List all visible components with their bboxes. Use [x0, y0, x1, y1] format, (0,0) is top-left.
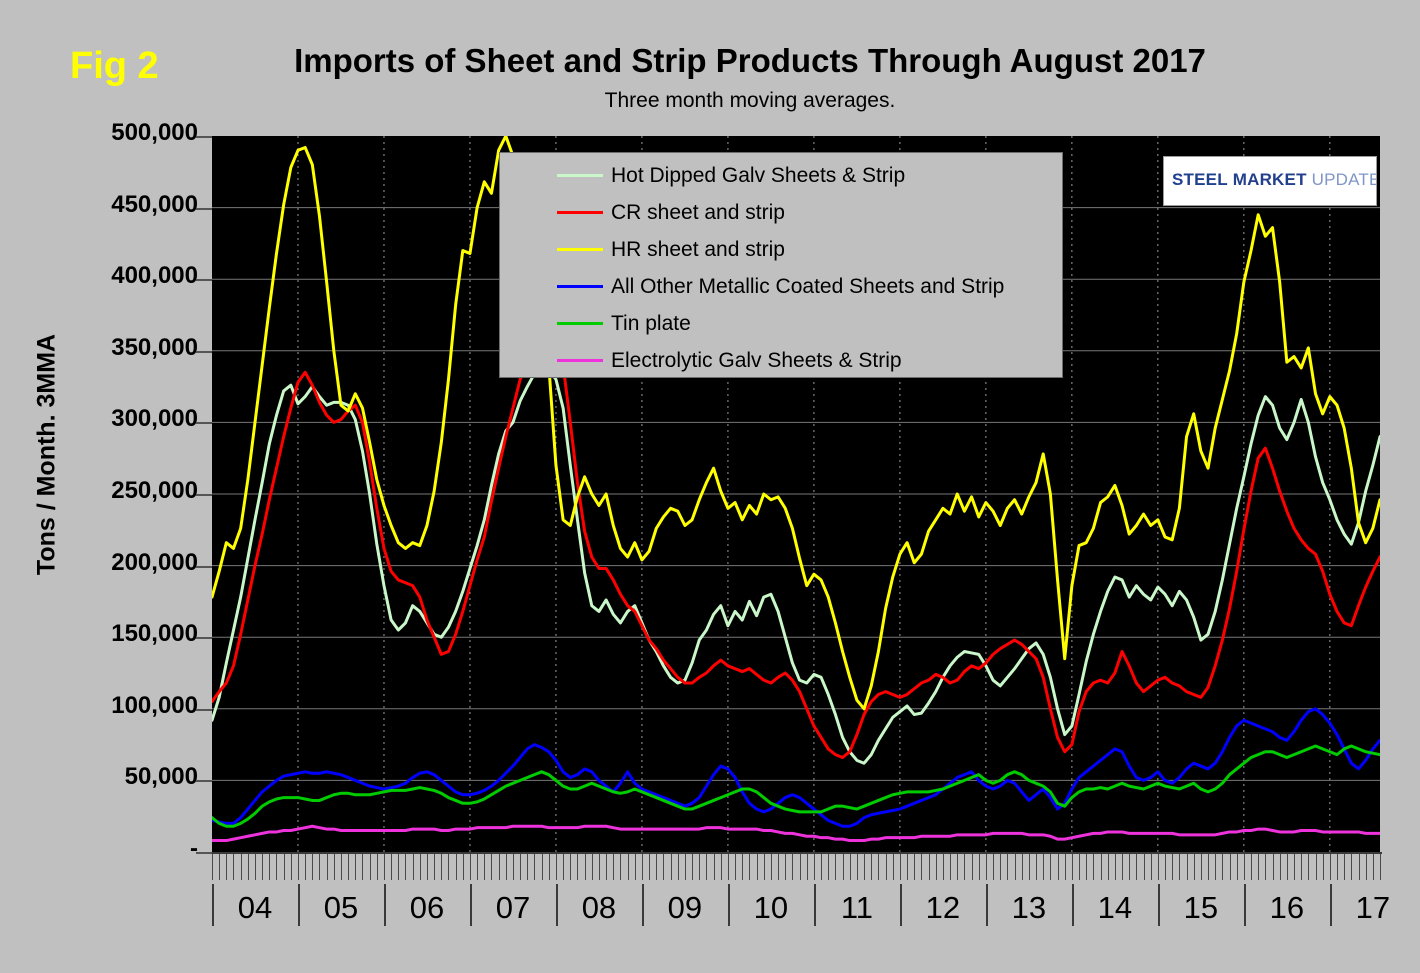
- x-axis-minor-tick: [513, 854, 514, 880]
- x-axis-minor-tick: [1015, 854, 1016, 880]
- y-axis-tick-mark: [196, 422, 212, 424]
- x-axis-tick-label: 11: [815, 890, 899, 926]
- x-axis-minor-tick: [943, 854, 944, 880]
- x-axis-minor-tick: [900, 854, 901, 880]
- x-axis-minor-tick: [1050, 854, 1051, 880]
- x-axis-minor-tick: [671, 854, 672, 880]
- x-axis-tick-label: 17: [1331, 890, 1415, 926]
- x-axis-minor-tick: [1208, 854, 1209, 880]
- x-axis-minor-tick: [1122, 854, 1123, 880]
- x-axis-minor-tick: [506, 854, 507, 880]
- x-axis-minor-tick: [1187, 854, 1188, 880]
- x-axis-tick-label: 12: [901, 890, 985, 926]
- x-axis-minor-tick: [219, 854, 220, 880]
- y-axis-tick-label: 450,000: [18, 191, 198, 219]
- x-axis-minor-tick: [1337, 854, 1338, 880]
- x-axis-minor-tick: [1380, 854, 1381, 880]
- x-axis-minor-tick: [1036, 854, 1037, 880]
- x-axis-minor-tick: [570, 854, 571, 880]
- x-axis-minor-tick: [907, 854, 908, 880]
- chart-figure: Fig 2 Imports of Sheet and Strip Product…: [0, 0, 1420, 973]
- x-axis-minor-tick: [592, 854, 593, 880]
- x-axis-minor-tick: [1179, 854, 1180, 880]
- y-axis-tick-mark: [196, 279, 212, 281]
- x-axis-minor-tick: [699, 854, 700, 880]
- x-axis-minor-tick: [534, 854, 535, 880]
- x-axis-minor-tick: [1058, 854, 1059, 880]
- legend-item-label: Electrolytic Galv Sheets & Strip: [611, 349, 902, 373]
- x-axis-minor-tick: [742, 854, 743, 880]
- y-axis-tick-mark: [196, 566, 212, 568]
- x-axis-minor-tick: [635, 854, 636, 880]
- x-axis-minor-tick: [348, 854, 349, 880]
- logo-word-update: UPDATE: [1312, 170, 1377, 189]
- x-axis-minor-tick: [1158, 854, 1159, 880]
- x-axis-minor-tick: [362, 854, 363, 880]
- x-axis-minor-tick: [850, 854, 851, 880]
- x-axis-minor-tick: [1093, 854, 1094, 880]
- y-axis-tick-label: 200,000: [18, 549, 198, 577]
- x-axis-minor-tick: [828, 854, 829, 880]
- x-axis-minor-tick: [721, 854, 722, 880]
- x-axis-minor-tick: [628, 854, 629, 880]
- y-axis-tick-mark: [196, 637, 212, 639]
- x-axis-minor-tick: [1280, 854, 1281, 880]
- x-axis-minor-tick: [1251, 854, 1252, 880]
- x-axis-minor-tick: [1373, 854, 1374, 880]
- x-axis-minor-tick: [398, 854, 399, 880]
- x-axis-minor-tick: [663, 854, 664, 880]
- chart-title: Imports of Sheet and Strip Products Thro…: [180, 42, 1320, 80]
- series-line: [212, 826, 1380, 840]
- x-axis-minor-tick: [527, 854, 528, 880]
- x-axis-minor-tick: [1294, 854, 1295, 880]
- x-axis-minor-tick: [298, 854, 299, 880]
- x-axis-minor-tick: [1273, 854, 1274, 880]
- x-axis-minor-tick: [950, 854, 951, 880]
- x-axis-tick-label: 15: [1159, 890, 1243, 926]
- x-axis-minor-tick: [585, 854, 586, 880]
- x-axis-minor-tick: [405, 854, 406, 880]
- series-line: [212, 737, 1380, 826]
- x-axis-minor-tick: [921, 854, 922, 880]
- x-axis-minor-tick: [649, 854, 650, 880]
- logo-word-market: MARKET: [1233, 170, 1307, 189]
- y-axis-tick-label: -: [18, 835, 198, 863]
- x-axis-minor-tick: [1244, 854, 1245, 880]
- x-axis-minor-tick: [470, 854, 471, 880]
- x-axis-tick-label: 10: [729, 890, 813, 926]
- legend-item[interactable]: All Other Metallic Coated Sheets and Str…: [500, 268, 1062, 305]
- x-axis-minor-tick: [549, 854, 550, 880]
- y-axis-tick-mark: [196, 136, 212, 138]
- legend-color-swatch: [557, 211, 603, 214]
- x-axis-minor-tick: [542, 854, 543, 880]
- x-axis-minor-tick: [463, 854, 464, 880]
- x-axis-tick-label: 16: [1245, 890, 1329, 926]
- x-axis-minor-tick: [599, 854, 600, 880]
- x-axis-minor-tick: [642, 854, 643, 880]
- x-axis-minor-tick: [1165, 854, 1166, 880]
- legend-color-swatch: [557, 248, 603, 251]
- x-axis-minor-tick: [1351, 854, 1352, 880]
- legend-item[interactable]: HR sheet and strip: [500, 231, 1062, 268]
- x-axis-minor-tick: [1079, 854, 1080, 880]
- x-axis-minor-tick: [993, 854, 994, 880]
- x-axis-minor-tick: [620, 854, 621, 880]
- x-axis-minor-tick: [1330, 854, 1331, 880]
- x-axis-tick-label: 07: [471, 890, 555, 926]
- x-axis-minor-tick: [800, 854, 801, 880]
- y-axis-tick-label: 500,000: [18, 119, 198, 147]
- x-axis-minor-tick: [964, 854, 965, 880]
- x-axis-minor-tick: [413, 854, 414, 880]
- x-axis-minor-tick: [1215, 854, 1216, 880]
- x-axis-minor-tick: [728, 854, 729, 880]
- y-axis-tick-label: 400,000: [18, 262, 198, 290]
- chart-subtitle: Three month moving averages.: [180, 88, 1320, 114]
- x-axis-minor-tick: [685, 854, 686, 880]
- x-axis-minor-tick: [248, 854, 249, 880]
- x-axis-minor-tick: [427, 854, 428, 880]
- x-axis-minor-tick: [420, 854, 421, 880]
- x-axis-minor-tick: [1065, 854, 1066, 880]
- x-axis-minor-tick: [1222, 854, 1223, 880]
- y-axis-tick-mark: [196, 208, 212, 210]
- logo-word-steel: STEEL: [1172, 170, 1228, 189]
- x-axis-minor-tick: [656, 854, 657, 880]
- x-axis-minor-tick: [556, 854, 557, 880]
- x-axis-minor-tick: [785, 854, 786, 880]
- x-axis-minor-tick: [1237, 854, 1238, 880]
- x-axis-minor-tick: [1287, 854, 1288, 880]
- x-axis-minor-tick: [871, 854, 872, 880]
- x-axis-minor-tick: [821, 854, 822, 880]
- x-axis-minor-tick: [1007, 854, 1008, 880]
- logo-wordmark: STEEL MARKET UPDATE: [1172, 170, 1372, 190]
- x-axis-minor-tick: [857, 854, 858, 880]
- x-axis-minor-tick: [448, 854, 449, 880]
- x-axis-tick-label: 13: [987, 890, 1071, 926]
- legend-item-label: All Other Metallic Coated Sheets and Str…: [611, 275, 1004, 299]
- x-axis-minor-tick: [1359, 854, 1360, 880]
- x-axis-minor-tick: [1344, 854, 1345, 880]
- x-axis-minor-tick: [893, 854, 894, 880]
- x-axis-tick-label: 14: [1073, 890, 1157, 926]
- x-axis-minor-tick: [1151, 854, 1152, 880]
- y-axis-tick-label: 300,000: [18, 405, 198, 433]
- y-axis-tick-label: 100,000: [18, 692, 198, 720]
- x-axis-minor-tick: [914, 854, 915, 880]
- x-axis-minor-tick: [441, 854, 442, 880]
- x-axis-minor-tick: [1230, 854, 1231, 880]
- legend-item[interactable]: Tin plate: [500, 305, 1062, 342]
- x-axis-minor-tick: [936, 854, 937, 880]
- x-axis-minor-tick: [1072, 854, 1073, 880]
- x-axis-minor-tick: [255, 854, 256, 880]
- x-axis-minor-tick: [577, 854, 578, 880]
- x-axis-minor-tick: [1101, 854, 1102, 880]
- legend-item-label: HR sheet and strip: [611, 238, 785, 262]
- x-axis-minor-tick: [355, 854, 356, 880]
- x-axis-minor-tick: [334, 854, 335, 880]
- legend-item-label: Tin plate: [611, 312, 691, 336]
- x-axis-minor-tick: [1144, 854, 1145, 880]
- x-axis-minor-tick: [1366, 854, 1367, 880]
- x-axis-minor-tick: [986, 854, 987, 880]
- y-axis-tick-label: 350,000: [18, 334, 198, 362]
- x-axis-minor-tick: [714, 854, 715, 880]
- x-axis-minor-tick: [979, 854, 980, 880]
- x-axis-minor-tick: [1172, 854, 1173, 880]
- legend-color-swatch: [557, 174, 603, 177]
- x-axis-minor-tick: [678, 854, 679, 880]
- x-axis-minor-tick: [1194, 854, 1195, 880]
- x-axis-minor-tick: [1316, 854, 1317, 880]
- x-axis-minor-tick: [262, 854, 263, 880]
- x-axis-baseline: [212, 852, 1382, 854]
- x-axis-minor-tick: [370, 854, 371, 880]
- x-axis-minor-tick: [1323, 854, 1324, 880]
- x-axis-minor-tick: [377, 854, 378, 880]
- y-axis-tick-mark: [196, 494, 212, 496]
- legend-color-swatch: [557, 285, 603, 288]
- x-axis-minor-tick: [291, 854, 292, 880]
- x-axis-minor-tick: [1043, 854, 1044, 880]
- series-line: [212, 369, 1380, 763]
- legend-item[interactable]: CR sheet and strip: [500, 194, 1062, 231]
- x-axis-minor-tick: [1258, 854, 1259, 880]
- x-axis-minor-tick: [341, 854, 342, 880]
- steel-market-update-logo: STEEL MARKET UPDATE: [1163, 156, 1377, 206]
- chart-legend: Hot Dipped Galv Sheets & Strip CR sheet …: [499, 152, 1063, 378]
- x-axis-minor-tick: [434, 854, 435, 880]
- y-axis-tick-mark: [196, 351, 212, 353]
- x-axis-minor-tick: [771, 854, 772, 880]
- x-axis-minor-tick: [1129, 854, 1130, 880]
- x-axis-minor-tick: [972, 854, 973, 880]
- legend-color-swatch: [557, 359, 603, 362]
- x-axis-minor-tick: [778, 854, 779, 880]
- x-axis-minor-tick: [226, 854, 227, 880]
- x-axis-minor-tick: [327, 854, 328, 880]
- x-axis-minor-tick: [520, 854, 521, 880]
- x-axis-minor-tick: [563, 854, 564, 880]
- legend-item-label: Hot Dipped Galv Sheets & Strip: [611, 164, 905, 188]
- x-axis-minor-tick: [212, 854, 213, 880]
- x-axis-minor-tick: [1265, 854, 1266, 880]
- legend-item[interactable]: Electrolytic Galv Sheets & Strip: [500, 342, 1062, 379]
- x-axis-tick-label: 08: [557, 890, 641, 926]
- x-axis-tick-label: 04: [213, 890, 297, 926]
- x-axis-minor-tick: [864, 854, 865, 880]
- x-axis-minor-tick: [456, 854, 457, 880]
- x-axis-minor-tick: [1136, 854, 1137, 880]
- x-axis-minor-tick: [284, 854, 285, 880]
- figure-number-label: Fig 2: [70, 44, 159, 88]
- x-axis-minor-tick: [792, 854, 793, 880]
- y-axis-tick-mark: [196, 709, 212, 711]
- x-axis-minor-tick: [749, 854, 750, 880]
- legend-item[interactable]: Hot Dipped Galv Sheets & Strip: [500, 157, 1062, 194]
- x-axis-minor-tick: [1201, 854, 1202, 880]
- x-axis-minor-tick: [706, 854, 707, 880]
- x-axis-minor-tick: [735, 854, 736, 880]
- x-axis-minor-tick: [957, 854, 958, 880]
- x-axis-minor-tick: [814, 854, 815, 880]
- x-axis-minor-tick: [499, 854, 500, 880]
- x-axis-minor-tick: [606, 854, 607, 880]
- x-axis-minor-tick: [757, 854, 758, 880]
- x-axis-minor-tick: [305, 854, 306, 880]
- x-axis-minor-tick: [1108, 854, 1109, 880]
- x-axis-minor-tick: [613, 854, 614, 880]
- x-axis-minor-tick: [1308, 854, 1309, 880]
- x-axis-minor-tick: [878, 854, 879, 880]
- x-axis-minor-tick: [276, 854, 277, 880]
- x-axis-minor-tick: [886, 854, 887, 880]
- x-axis-minor-tick: [241, 854, 242, 880]
- x-axis-minor-tick: [835, 854, 836, 880]
- x-axis-minor-tick: [491, 854, 492, 880]
- x-axis-minor-tick: [843, 854, 844, 880]
- x-axis-minor-tick: [929, 854, 930, 880]
- y-axis-tick-label: 250,000: [18, 477, 198, 505]
- x-axis-minor-tick: [233, 854, 234, 880]
- x-axis-minor-tick: [319, 854, 320, 880]
- legend-color-swatch: [557, 322, 603, 325]
- x-axis-minor-tick: [1000, 854, 1001, 880]
- x-axis-minor-tick: [391, 854, 392, 880]
- y-axis-tick-label: 50,000: [18, 763, 198, 791]
- x-axis-minor-tick: [312, 854, 313, 880]
- x-axis-minor-tick: [384, 854, 385, 880]
- x-axis-minor-tick: [764, 854, 765, 880]
- x-axis-minor-tick: [1115, 854, 1116, 880]
- x-axis-minor-tick: [484, 854, 485, 880]
- x-axis-tick-label: 06: [385, 890, 469, 926]
- legend-item-label: CR sheet and strip: [611, 201, 785, 225]
- y-axis-tick-mark: [196, 852, 212, 854]
- x-axis-minor-tick: [477, 854, 478, 880]
- x-axis-minor-tick: [269, 854, 270, 880]
- y-axis-tick-mark: [196, 780, 212, 782]
- y-axis-tick-label: 150,000: [18, 620, 198, 648]
- x-axis-tick-label: 05: [299, 890, 383, 926]
- x-axis-minor-tick: [1029, 854, 1030, 880]
- x-axis-minor-tick: [1086, 854, 1087, 880]
- x-axis-minor-tick: [1301, 854, 1302, 880]
- x-axis-minor-tick: [1022, 854, 1023, 880]
- x-axis-tick-label: 09: [643, 890, 727, 926]
- x-axis-minor-tick: [692, 854, 693, 880]
- x-axis-minor-tick: [807, 854, 808, 880]
